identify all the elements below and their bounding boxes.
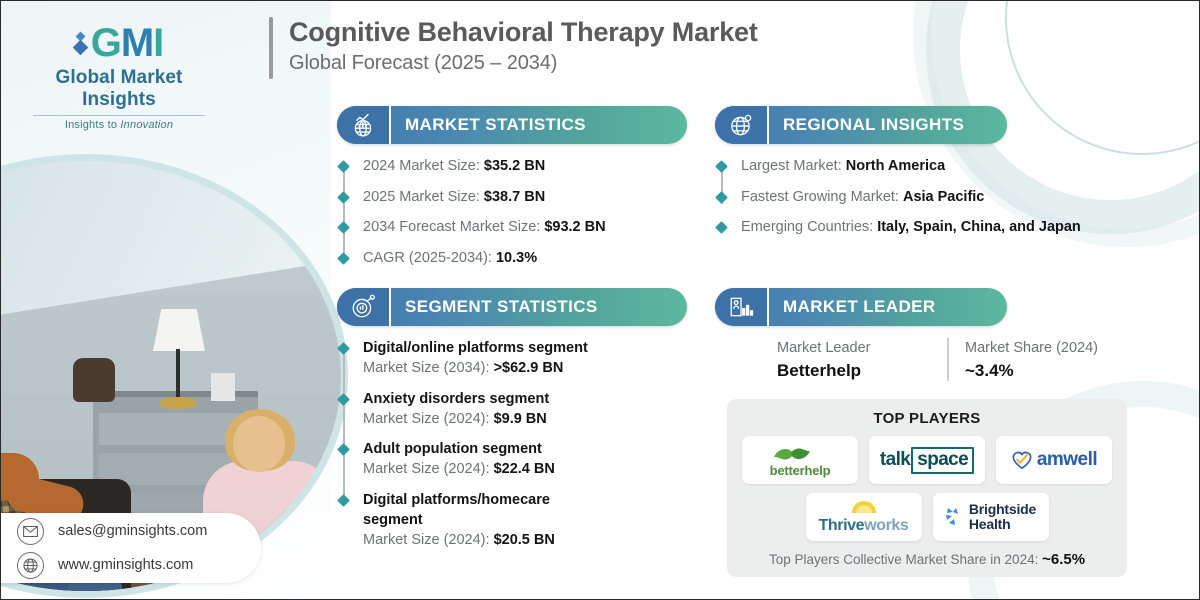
market-statistics-header: MARKET STATISTICS <box>337 106 687 144</box>
top-players-title: TOP PLAYERS <box>727 410 1127 427</box>
market-leader-body: Market Leader Betterhelp Market Share (2… <box>715 338 1015 381</box>
logo-divider <box>33 115 205 116</box>
section-regional-insights: REGIONAL INSIGHTS Largest Market: North … <box>715 106 1145 248</box>
player-name-b: space <box>911 447 974 474</box>
amwell-heart-check-logo <box>1011 450 1033 470</box>
bullet-icon <box>715 221 728 234</box>
regional-insights-list: Largest Market: North America Fastest Gr… <box>715 156 1145 238</box>
section-segment-statistics: SEGMENT STATISTICS Digital/online platfo… <box>337 288 687 560</box>
logo-tagline: Insights to Innovation <box>19 119 219 131</box>
envelope-icon <box>17 518 44 545</box>
list-item: 2025 Market Size: $38.7 BN <box>363 187 687 208</box>
list-item: 2024 Market Size: $35.2 BN <box>363 156 687 177</box>
list-item: Largest Market: North America <box>741 156 1145 177</box>
talkspace-logo: talk space <box>880 447 974 474</box>
brightside-burst-logo <box>945 506 965 528</box>
gmi-diamond-icon <box>75 33 86 53</box>
bullet-icon <box>337 252 350 265</box>
section-market-statistics: MARKET STATISTICS 2024 Market Size: $35.… <box>337 106 687 278</box>
title-accent-bar <box>269 17 273 79</box>
contact-website-row[interactable]: www.gminsights.com <box>17 552 261 579</box>
bullet-icon <box>337 443 350 456</box>
top-players-row-1: betterhelp talk space amwell <box>727 436 1127 484</box>
thriveworks-sun-logo <box>844 500 884 514</box>
list-spine <box>343 348 345 504</box>
bullet-icon <box>337 160 350 173</box>
bullet-icon <box>715 160 728 173</box>
list-item: Emerging Countries: Italy, Spain, China,… <box>741 217 1145 238</box>
logo-company-name: Global Market Insights <box>19 67 219 111</box>
contact-email: sales@gminsights.com <box>58 523 207 539</box>
logo-wordmark: GMI <box>91 23 164 63</box>
market-leader-name-block: Market Leader Betterhelp <box>777 338 947 381</box>
top-players-footnote: Top Players Collective Market Share in 2… <box>727 551 1127 568</box>
betterhelp-leaf-logo <box>770 444 814 464</box>
globe-pin-icon <box>715 106 769 144</box>
bullet-icon <box>337 191 350 204</box>
globe-chart-icon <box>337 106 391 144</box>
player-name: betterhelp <box>770 464 831 477</box>
segment-statistics-title: SEGMENT STATISTICS <box>391 297 598 317</box>
player-name: Brightside Health <box>969 502 1036 531</box>
market-leader-title: MARKET LEADER <box>769 297 936 317</box>
top-players-row-2: Thriveworks Brightside Health <box>727 493 1127 541</box>
player-card-amwell[interactable]: amwell <box>996 436 1112 484</box>
regional-insights-title: REGIONAL INSIGHTS <box>769 115 964 135</box>
gmi-logo: GMI Global Market Insights Insights to I… <box>19 23 219 131</box>
bullet-icon <box>337 494 350 507</box>
contact-website: www.gminsights.com <box>58 557 193 573</box>
player-card-thriveworks[interactable]: Thriveworks <box>806 493 922 541</box>
player-name-a: talk <box>880 449 910 471</box>
globe-icon <box>17 552 44 579</box>
list-item: CAGR (2025-2034): 10.3% <box>363 248 687 269</box>
segment-statistics-header: SEGMENT STATISTICS <box>337 288 687 326</box>
player-card-talkspace[interactable]: talk space <box>869 436 985 484</box>
top-players-panel: TOP PLAYERS betterhelp talk space <box>727 399 1127 577</box>
market-leader-header: MARKET LEADER <box>715 288 1007 326</box>
page-title: Cognitive Behavioral Therapy Market <box>289 17 758 49</box>
infographic-canvas: GMI Global Market Insights Insights to I… <box>0 0 1200 600</box>
player-name: amwell <box>1037 449 1097 471</box>
bullet-icon <box>337 393 350 406</box>
player-card-brightside-health[interactable]: Brightside Health <box>933 493 1049 541</box>
player-card-betterhelp[interactable]: betterhelp <box>742 436 858 484</box>
page-title-block: Cognitive Behavioral Therapy Market Glob… <box>269 17 758 79</box>
list-item: 2034 Forecast Market Size: $93.2 BN <box>363 217 687 238</box>
market-share-value: ~3.4% <box>965 361 1135 381</box>
market-leader-value: Betterhelp <box>777 361 947 381</box>
market-share-block: Market Share (2024) ~3.4% <box>947 338 1135 381</box>
list-item: Adult population segment Market Size (20… <box>363 439 687 480</box>
segment-statistics-list: Digital/online platforms segment Market … <box>337 338 687 550</box>
list-item: Digital platforms/homecare segment Marke… <box>363 490 687 551</box>
page-subtitle: Global Forecast (2025 – 2034) <box>289 52 758 75</box>
market-share-caption: Market Share (2024) <box>965 338 1135 360</box>
market-statistics-list: 2024 Market Size: $35.2 BN 2025 Market S… <box>337 156 687 268</box>
list-item: Fastest Growing Market: Asia Pacific <box>741 187 1145 208</box>
market-leader-caption: Market Leader <box>777 338 947 360</box>
bullet-icon <box>337 342 350 355</box>
podium-leader-icon <box>715 288 769 326</box>
contact-email-row[interactable]: sales@gminsights.com <box>17 518 261 545</box>
segment-target-icon <box>337 288 391 326</box>
market-statistics-title: MARKET STATISTICS <box>391 115 586 135</box>
regional-insights-header: REGIONAL INSIGHTS <box>715 106 1007 144</box>
player-name: Thriveworks <box>819 518 909 534</box>
list-item: Anxiety disorders segment Market Size (2… <box>363 389 687 430</box>
bullet-icon <box>715 191 728 204</box>
contact-footer: sales@gminsights.com www.gminsights.com <box>0 513 261 583</box>
list-item: Digital/online platforms segment Market … <box>363 338 687 379</box>
bullet-icon <box>337 221 350 234</box>
list-spine <box>343 166 345 254</box>
section-market-leader: MARKET LEADER Market Leader Betterhelp M… <box>715 288 1015 381</box>
